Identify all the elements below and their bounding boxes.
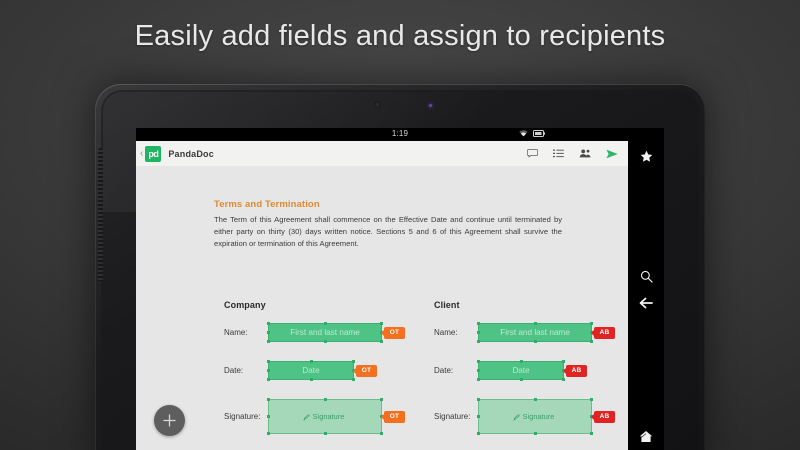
column-heading-company: Company xyxy=(224,300,266,310)
field-label-client-date: Date: xyxy=(434,366,478,375)
add-field-button[interactable] xyxy=(154,405,185,436)
pandadoc-logo-icon: pd xyxy=(145,146,161,162)
status-time: 1:19 xyxy=(136,129,664,138)
document-canvas[interactable]: Terms and Termination The Term of this A… xyxy=(136,166,628,450)
field-placeholder-client-signature: Signature xyxy=(523,412,555,421)
status-bar: 1:19 xyxy=(136,128,664,141)
wifi-icon xyxy=(519,130,528,137)
screenshot-root: Easily add fields and assign to recipien… xyxy=(0,0,800,450)
back-icon[interactable] xyxy=(628,293,664,313)
back-chevron-icon[interactable]: ‹ xyxy=(140,149,143,159)
field-row-company-name: Name: First and last name OT xyxy=(224,323,382,342)
system-nav-bar xyxy=(628,141,664,450)
field-row-company-signature: Signature: Signature OT xyxy=(224,399,382,434)
device-screen: 1:19 ‹ pd PandaDoc xyxy=(136,128,664,450)
document-section-title: Terms and Termination xyxy=(214,199,320,210)
assignee-badge-company[interactable]: OT xyxy=(356,365,377,377)
field-label-company-date: Date: xyxy=(224,366,268,375)
field-company-date[interactable]: Date OT xyxy=(268,361,354,380)
app-bar: ‹ pd PandaDoc xyxy=(136,141,628,167)
field-placeholder-client-name: First and last name xyxy=(500,328,570,337)
field-placeholder-client-date: Date xyxy=(512,366,529,375)
column-heading-client: Client xyxy=(434,300,460,310)
search-icon[interactable] xyxy=(628,266,664,286)
home-icon[interactable] xyxy=(628,426,664,446)
promo-headline: Easily add fields and assign to recipien… xyxy=(0,20,800,53)
field-client-date[interactable]: Date AB xyxy=(478,361,564,380)
field-label-company-signature: Signature: xyxy=(224,412,268,421)
send-icon[interactable] xyxy=(606,149,618,159)
field-label-client-name: Name: xyxy=(434,328,478,337)
recipients-icon[interactable] xyxy=(579,149,591,158)
field-placeholder-company-signature: Signature xyxy=(313,412,345,421)
field-label-client-signature: Signature: xyxy=(434,412,478,421)
app-bar-actions xyxy=(527,149,618,159)
field-row-company-date: Date: Date OT xyxy=(224,361,354,380)
pen-icon xyxy=(513,408,520,426)
field-row-client-name: Name: First and last name AB xyxy=(434,323,592,342)
status-icons xyxy=(519,130,545,137)
field-client-signature[interactable]: Signature AB xyxy=(478,399,592,434)
pen-icon xyxy=(303,408,310,426)
field-placeholder-company-name: First and last name xyxy=(290,328,360,337)
assignee-badge-company[interactable]: OT xyxy=(384,411,405,423)
field-client-name[interactable]: First and last name AB xyxy=(478,323,592,342)
field-row-client-signature: Signature: Signature AB xyxy=(434,399,592,434)
speaker-grille xyxy=(98,148,103,283)
column-company: Company Name: First and last name OT Dat… xyxy=(224,300,266,310)
field-row-client-date: Date: Date AB xyxy=(434,361,564,380)
notification-led-icon xyxy=(429,104,432,107)
document-paragraph: The Term of this Agreement shall commenc… xyxy=(214,214,562,250)
front-camera-icon xyxy=(374,101,381,108)
column-client: Client Name: First and last name AB Date… xyxy=(434,300,460,310)
comment-icon[interactable] xyxy=(527,149,538,158)
field-label-company-name: Name: xyxy=(224,328,268,337)
assignee-badge-client[interactable]: AB xyxy=(594,411,615,423)
field-company-signature[interactable]: Signature OT xyxy=(268,399,382,434)
assignee-badge-client[interactable]: AB xyxy=(566,365,587,377)
battery-icon xyxy=(533,130,545,137)
assignee-badge-client[interactable]: AB xyxy=(594,327,615,339)
list-icon[interactable] xyxy=(553,149,564,158)
star-icon[interactable] xyxy=(628,146,664,166)
field-placeholder-company-date: Date xyxy=(302,366,319,375)
assignee-badge-company[interactable]: OT xyxy=(384,327,405,339)
field-company-name[interactable]: First and last name OT xyxy=(268,323,382,342)
app-title: PandaDoc xyxy=(168,149,214,159)
